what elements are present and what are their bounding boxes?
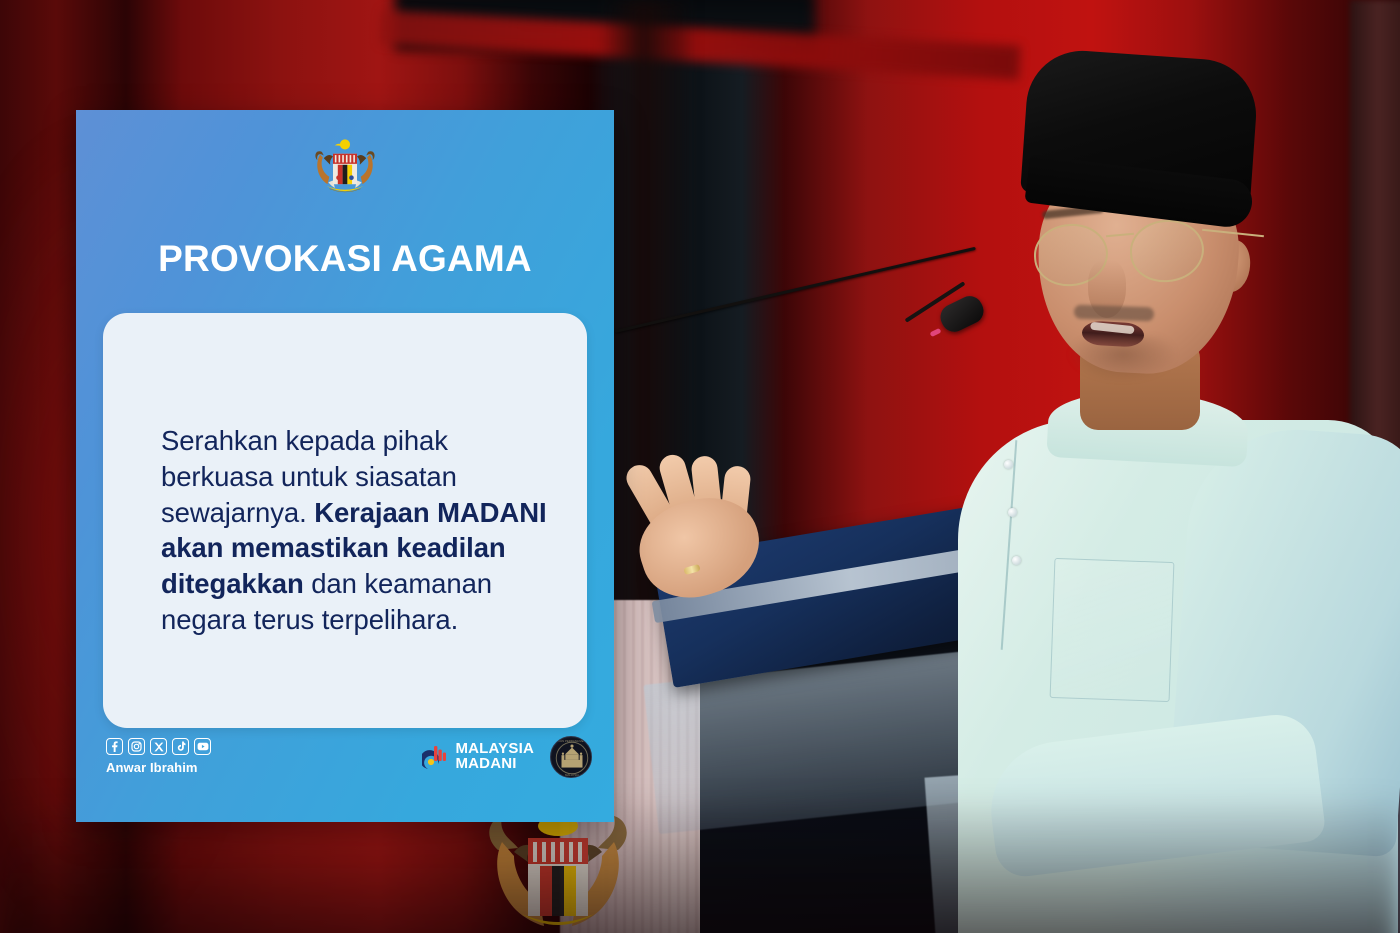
malaysia-madani-logo: MALAYSIA MADANI (422, 742, 534, 771)
raised-hand (630, 460, 780, 590)
attire-button (1008, 508, 1017, 517)
jabatan-perdana-menteri-seal: JABATAN PERDANA MENTERI MALAYSIA (550, 736, 592, 778)
x-twitter-icon[interactable] (150, 738, 167, 755)
svg-text:MALAYSIA: MALAYSIA (565, 773, 579, 777)
madani-wordmark: MALAYSIA MADANI (455, 742, 534, 771)
glasses-bridge (1106, 233, 1134, 238)
madani-line-2: MADANI (455, 757, 534, 772)
attire-button (1004, 460, 1013, 469)
tiktok-icon[interactable] (172, 738, 189, 755)
eyeglasses (1026, 218, 1256, 288)
page-title: PROVOKASI AGAMA (76, 238, 614, 280)
screenshot-root: PROVOKASI AGAMA Serahkan kepada pihak be… (0, 0, 1400, 933)
attire-button (1012, 556, 1021, 565)
lens-right (1128, 217, 1206, 284)
glasses-temple (1202, 229, 1264, 238)
teeth (1090, 322, 1135, 335)
attire-chest-pocket (1050, 558, 1175, 702)
account-handle: Anwar Ibrahim (106, 760, 198, 775)
card-footer: Anwar Ibrahim MALAYSIA MADANI (76, 738, 614, 794)
social-links[interactable] (106, 738, 211, 755)
madani-mark-icon (422, 743, 448, 771)
facebook-icon[interactable] (106, 738, 123, 755)
instagram-icon[interactable] (128, 738, 145, 755)
songkok-hat (1020, 47, 1260, 208)
footer-logos: MALAYSIA MADANI (422, 736, 592, 778)
message-text: Serahkan kepada pihak berkuasa untuk sia… (161, 423, 549, 638)
moustache (1074, 305, 1154, 322)
message-panel: Serahkan kepada pihak berkuasa untuk sia… (103, 313, 587, 728)
svg-text:JABATAN PERDANA MENTERI: JABATAN PERDANA MENTERI (552, 739, 592, 743)
chin-shadow (1068, 336, 1178, 382)
announcement-card: PROVOKASI AGAMA Serahkan kepada pihak be… (76, 110, 614, 822)
malaysia-coat-of-arms-icon (306, 138, 384, 198)
youtube-icon[interactable] (194, 738, 211, 755)
